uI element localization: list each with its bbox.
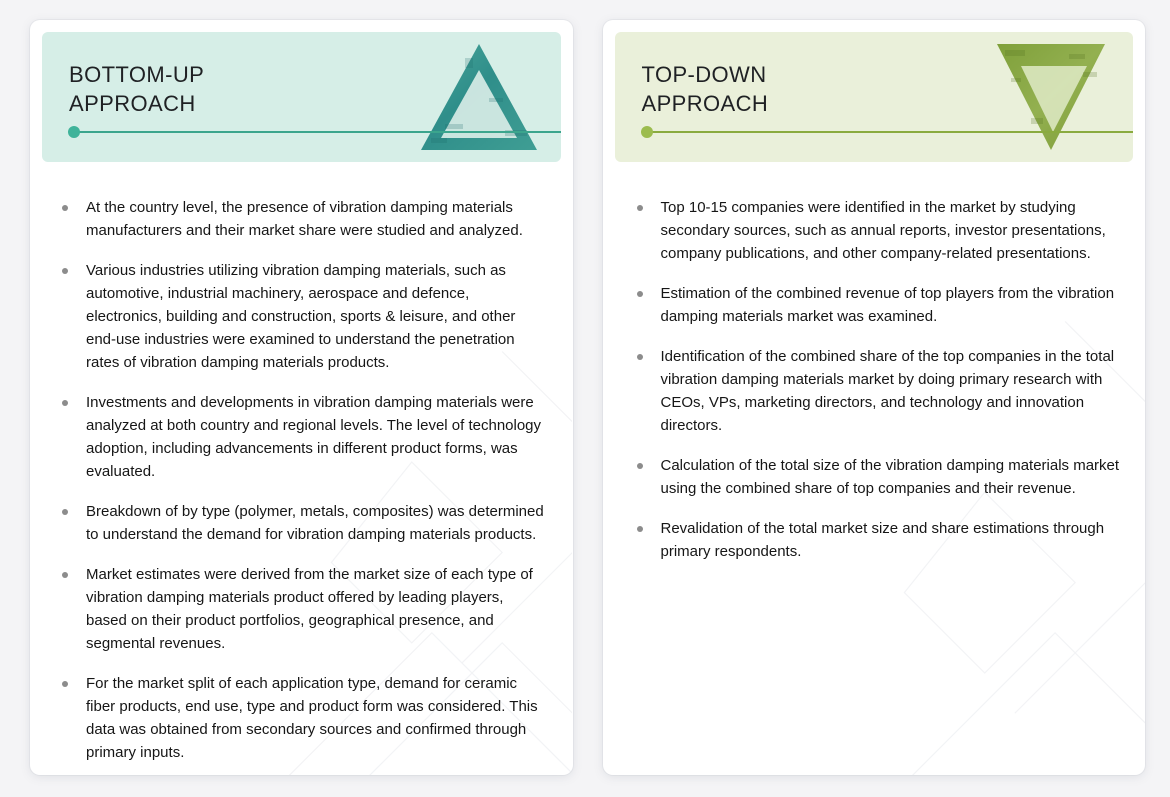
top-down-title: TOP-DOWN APPROACH (642, 60, 769, 118)
list-item: Investments and developments in vibratio… (56, 391, 547, 483)
list-item-text: Estimation of the combined revenue of to… (661, 285, 1115, 325)
bottom-up-approach-card: BOTTOM-UP APPROACH At the country level,… (30, 20, 573, 775)
list-item-text: At the country level, the presence of vi… (86, 199, 523, 239)
bullet-dot-icon (637, 526, 643, 532)
list-item: Identification of the combined share of … (631, 345, 1124, 437)
list-item-text: Market estimates were derived from the m… (86, 566, 533, 652)
bullet-dot-icon (62, 400, 68, 406)
list-item: Market estimates were derived from the m… (56, 563, 547, 655)
bottom-up-accent-rule (68, 126, 561, 138)
triangle-down-icon (991, 38, 1111, 156)
bullet-dot-icon (62, 509, 68, 515)
bottom-up-bullet-list: At the country level, the presence of vi… (30, 162, 573, 775)
bottom-up-header-panel: BOTTOM-UP APPROACH (42, 32, 561, 162)
list-item-text: Breakdown of by type (polymer, metals, c… (86, 503, 544, 543)
accent-dot (68, 126, 80, 138)
bullet-dot-icon (637, 205, 643, 211)
list-item: Various industries utilizing vibration d… (56, 259, 547, 374)
top-down-approach-card: TOP-DOWN APPROACH Top 10-15 companies we… (603, 20, 1146, 775)
top-down-header-panel: TOP-DOWN APPROACH (615, 32, 1134, 162)
approach-comparison-board: BOTTOM-UP APPROACH At the country level,… (0, 0, 1170, 797)
top-down-bullet-list: Top 10-15 companies were identified in t… (603, 162, 1146, 775)
accent-line (651, 131, 1134, 133)
list-item-text: Calculation of the total size of the vib… (661, 457, 1120, 497)
bullet-dot-icon (62, 681, 68, 687)
list-item-text: Top 10-15 companies were identified in t… (661, 199, 1106, 262)
list-item: Estimation of the combined revenue of to… (631, 282, 1124, 328)
bullet-dot-icon (62, 205, 68, 211)
list-item: Breakdown of by type (polymer, metals, c… (56, 500, 547, 546)
accent-dot (641, 126, 653, 138)
accent-line (78, 131, 561, 133)
list-item-text: Identification of the combined share of … (661, 348, 1115, 434)
bullet-dot-icon (637, 463, 643, 469)
bullet-dot-icon (637, 291, 643, 297)
list-item: Top 10-15 companies were identified in t… (631, 196, 1124, 265)
list-item: Calculation of the total size of the vib… (631, 454, 1124, 500)
top-down-accent-rule (641, 126, 1134, 138)
list-item: For the market split of each application… (56, 672, 547, 764)
bullet-dot-icon (62, 268, 68, 274)
list-item-text: Various industries utilizing vibration d… (86, 262, 515, 371)
list-item-text: Revalidation of the total market size an… (661, 520, 1105, 560)
triangle-up-icon (419, 38, 539, 156)
list-item: Revalidation of the total market size an… (631, 517, 1124, 563)
bottom-up-title: BOTTOM-UP APPROACH (69, 60, 204, 118)
list-item-text: Investments and developments in vibratio… (86, 394, 541, 480)
bullet-dot-icon (637, 354, 643, 360)
list-item: At the country level, the presence of vi… (56, 196, 547, 242)
bullet-dot-icon (62, 572, 68, 578)
list-item-text: For the market split of each application… (86, 675, 538, 761)
